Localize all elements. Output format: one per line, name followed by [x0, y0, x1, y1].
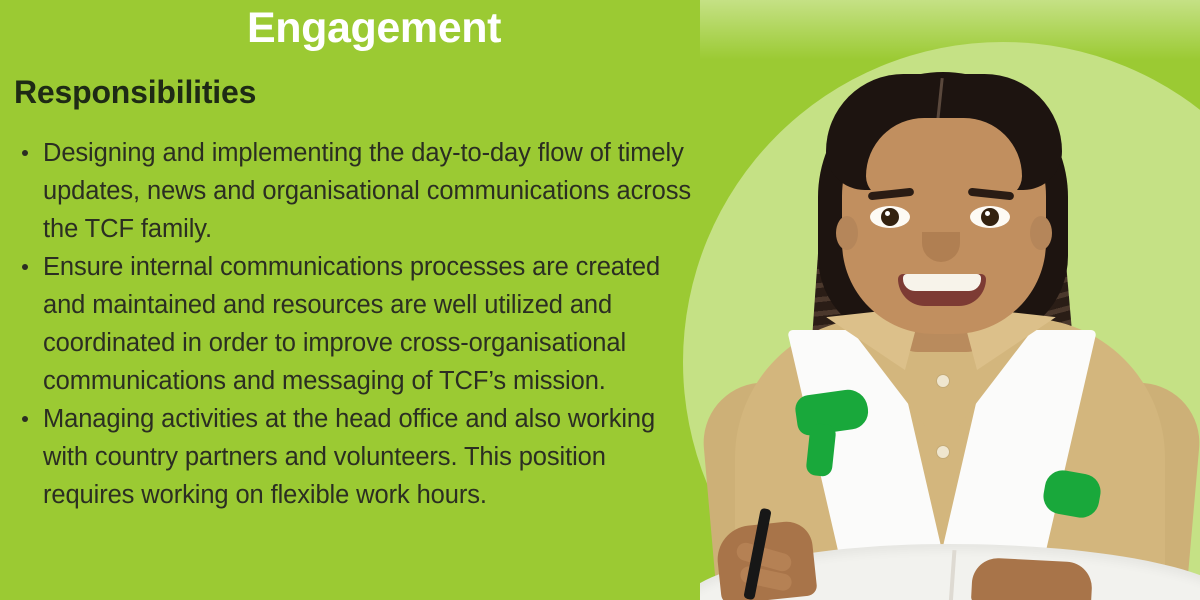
student-photo	[700, 0, 1200, 600]
shirt-button-bottom	[936, 445, 950, 459]
ear-left	[836, 216, 858, 250]
list-item-text: Managing activities at the head office a…	[43, 405, 655, 509]
pupil-right	[981, 208, 999, 226]
eye-right	[970, 206, 1010, 228]
teeth	[903, 274, 981, 291]
slide-canvas: Engagement Responsibilities Designing an…	[0, 0, 1200, 600]
section-heading-responsibilities: Responsibilities	[14, 72, 256, 112]
list-item: Ensure internal communications processes…	[16, 248, 696, 400]
shirt-button-top	[936, 374, 950, 388]
bullet-dot-icon	[22, 416, 28, 422]
ear-right	[1030, 216, 1052, 250]
pupil-left	[881, 208, 899, 226]
list-item-text: Ensure internal communications processes…	[43, 253, 660, 395]
list-item: Managing activities at the head office a…	[16, 400, 696, 514]
bullet-dot-icon	[22, 264, 28, 270]
forehead	[866, 118, 1022, 198]
list-item-text: Designing and implementing the day-to-da…	[43, 139, 691, 243]
list-item: Designing and implementing the day-to-da…	[16, 134, 696, 248]
page-title: Engagement	[0, 2, 1200, 54]
responsibilities-list: Designing and implementing the day-to-da…	[16, 134, 696, 514]
bullet-dot-icon	[22, 150, 28, 156]
resting-hand	[971, 557, 1093, 600]
smiling-mouth	[898, 274, 986, 306]
eye-left	[870, 206, 910, 228]
